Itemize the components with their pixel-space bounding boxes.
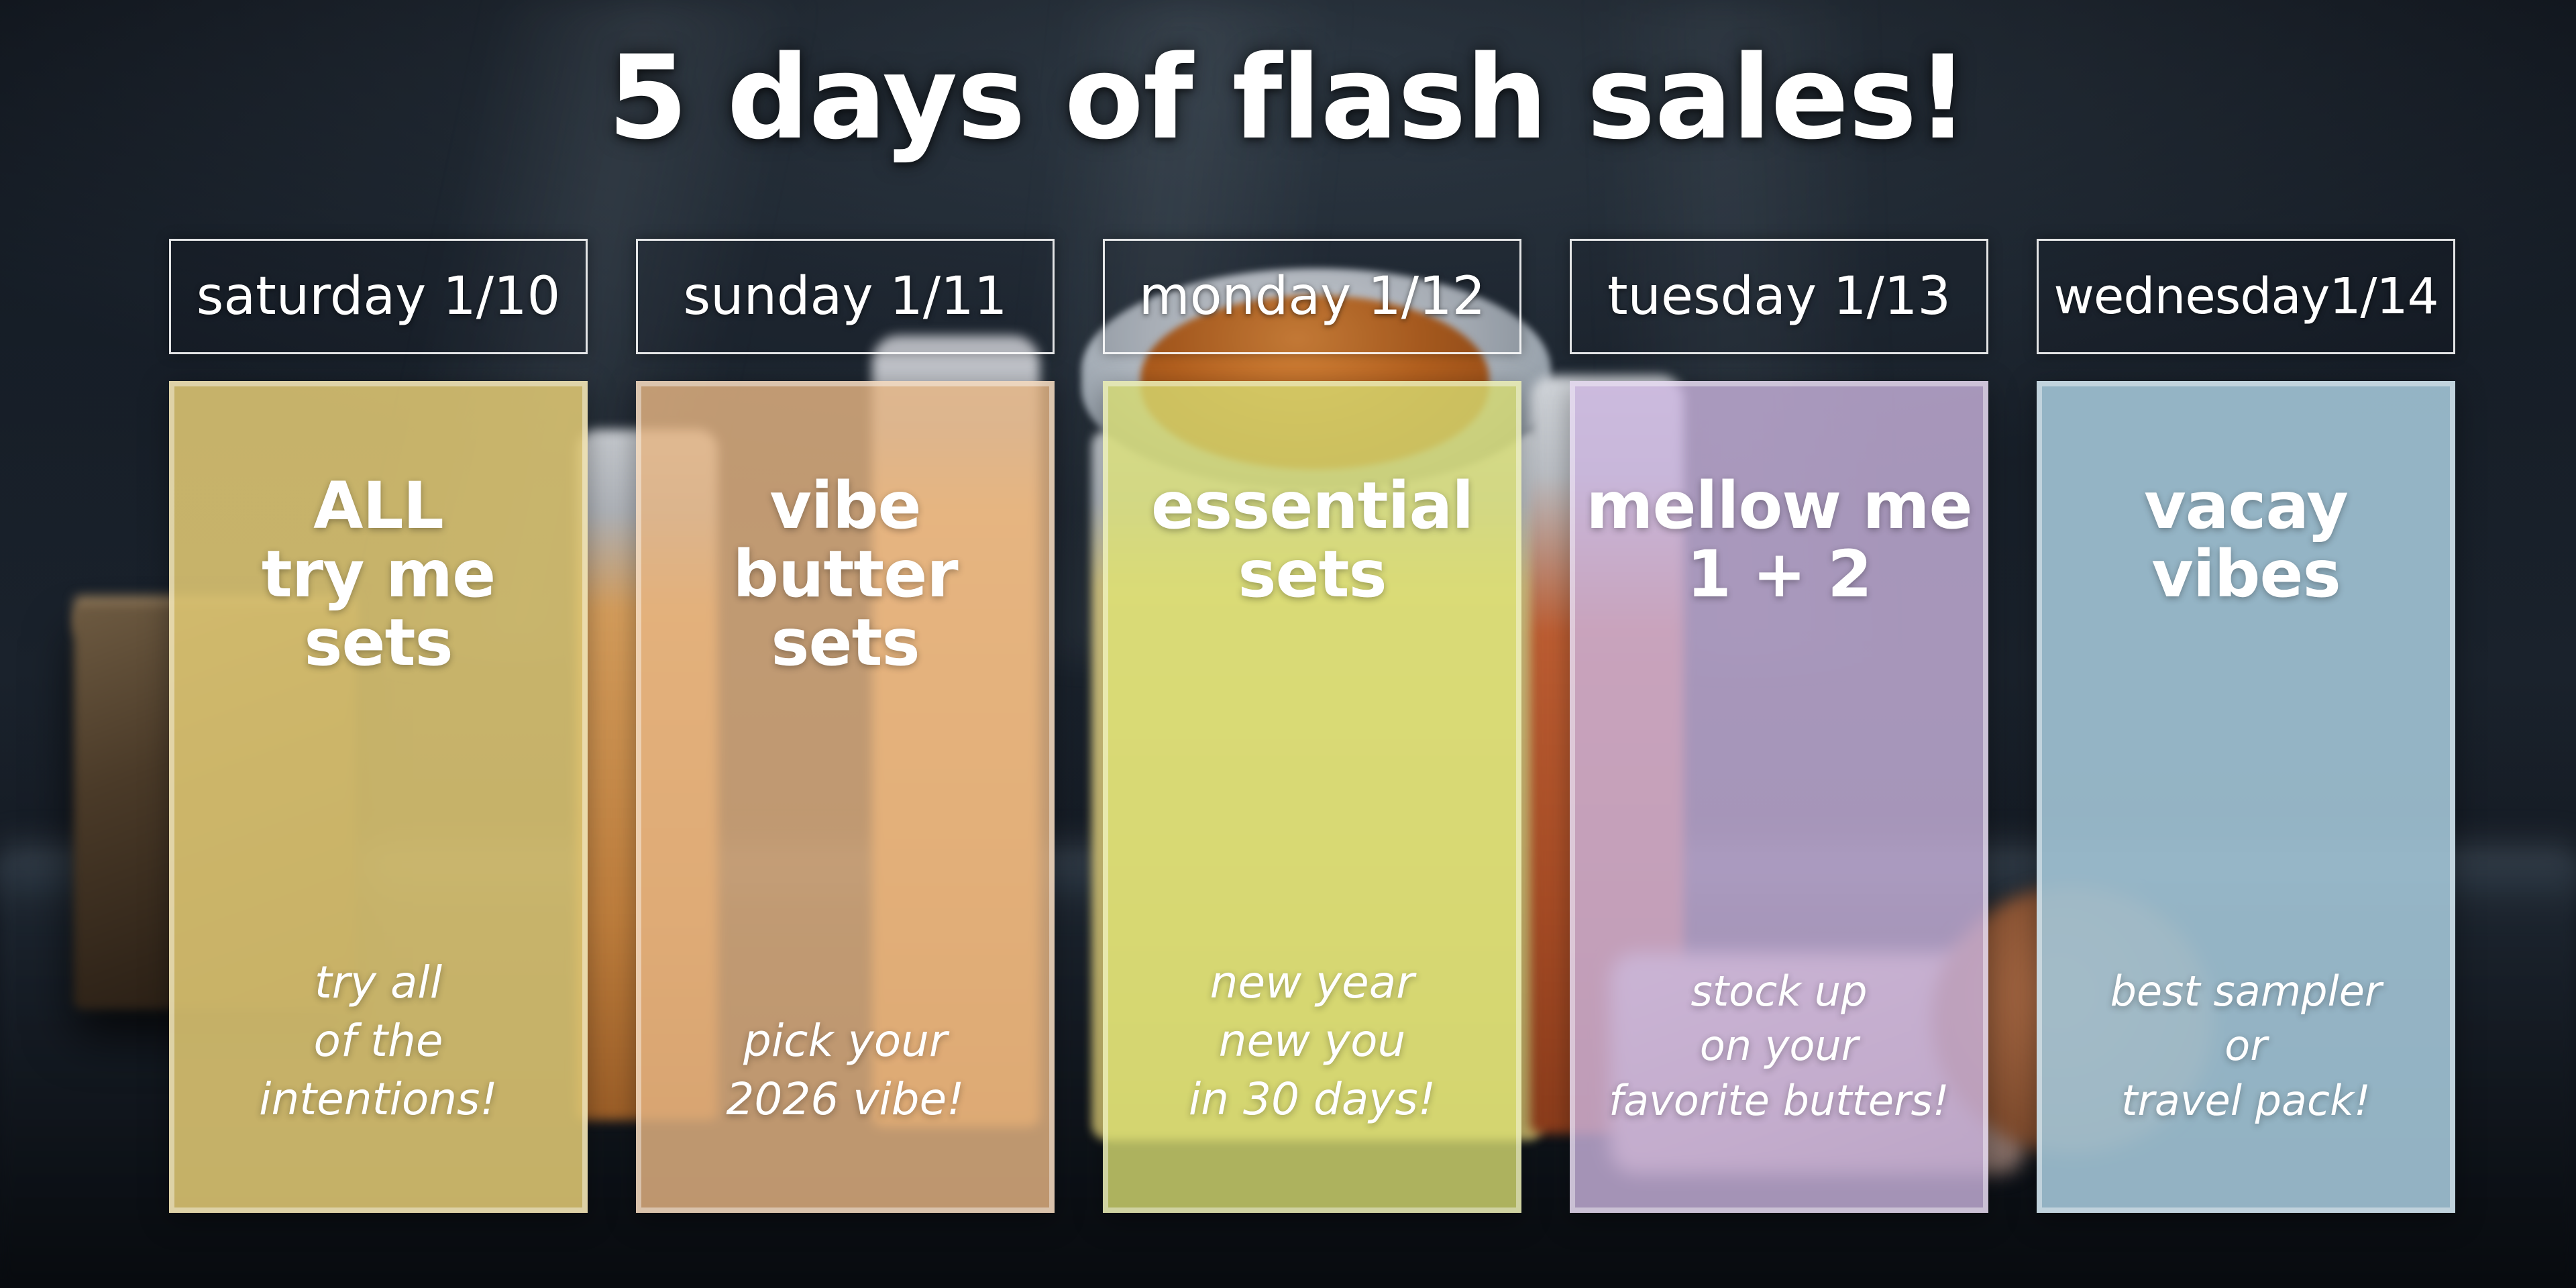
offer-headline-saturday: ALL try me sets bbox=[262, 472, 495, 677]
day-column-tuesday: tuesday 1/13 mellow me 1 + 2 stock up on… bbox=[1570, 239, 1988, 1218]
date-box-tuesday[interactable]: tuesday 1/13 bbox=[1570, 239, 1988, 354]
day-column-monday: monday 1/12 essential sets new year new … bbox=[1103, 239, 1521, 1218]
offer-subtext-tuesday: stock up on your favorite butters! bbox=[1609, 964, 1949, 1128]
offer-panel-sunday[interactable]: vibe butter sets pick your 2026 vibe! bbox=[636, 381, 1055, 1213]
date-label-saturday: saturday 1/10 bbox=[197, 266, 561, 327]
offer-panel-monday[interactable]: essential sets new year new you in 30 da… bbox=[1103, 381, 1521, 1213]
date-box-wednesday[interactable]: wednesday1/14 bbox=[2037, 239, 2455, 354]
offer-subtext-sunday: pick your 2026 vibe! bbox=[726, 1012, 964, 1128]
day-column-saturday: saturday 1/10 ALL try me sets try all of… bbox=[169, 239, 588, 1218]
offer-headline-monday: essential sets bbox=[1151, 472, 1473, 609]
page-title: 5 days of flash sales! bbox=[0, 40, 2576, 156]
date-label-wednesday: wednesday1/14 bbox=[2053, 268, 2438, 325]
day-column-sunday: sunday 1/11 vibe butter sets pick your 2… bbox=[636, 239, 1055, 1218]
offer-panel-saturday[interactable]: ALL try me sets try all of the intention… bbox=[169, 381, 588, 1213]
offer-headline-tuesday: mellow me 1 + 2 bbox=[1586, 472, 1972, 609]
offer-subtext-saturday: try all of the intentions! bbox=[259, 953, 498, 1128]
date-label-monday: monday 1/12 bbox=[1139, 266, 1486, 327]
offer-headline-sunday: vibe butter sets bbox=[733, 472, 957, 677]
flash-sale-banner: 5 days of flash sales! saturday 1/10 ALL… bbox=[0, 0, 2576, 1288]
date-label-tuesday: tuesday 1/13 bbox=[1607, 266, 1951, 327]
day-column-wednesday: wednesday1/14 vacay vibes best sampler o… bbox=[2037, 239, 2455, 1218]
offer-panel-wednesday[interactable]: vacay vibes best sampler or travel pack! bbox=[2037, 381, 2455, 1213]
offer-subtext-wednesday: best sampler or travel pack! bbox=[2110, 964, 2382, 1128]
date-box-monday[interactable]: monday 1/12 bbox=[1103, 239, 1521, 354]
date-label-sunday: sunday 1/11 bbox=[684, 266, 1008, 327]
offer-headline-wednesday: vacay vibes bbox=[2144, 472, 2348, 609]
offer-panel-tuesday[interactable]: mellow me 1 + 2 stock up on your favorit… bbox=[1570, 381, 1988, 1213]
date-box-saturday[interactable]: saturday 1/10 bbox=[169, 239, 588, 354]
day-columns: saturday 1/10 ALL try me sets try all of… bbox=[169, 239, 2474, 1218]
offer-subtext-monday: new year new you in 30 days! bbox=[1189, 953, 1436, 1128]
date-box-sunday[interactable]: sunday 1/11 bbox=[636, 239, 1055, 354]
